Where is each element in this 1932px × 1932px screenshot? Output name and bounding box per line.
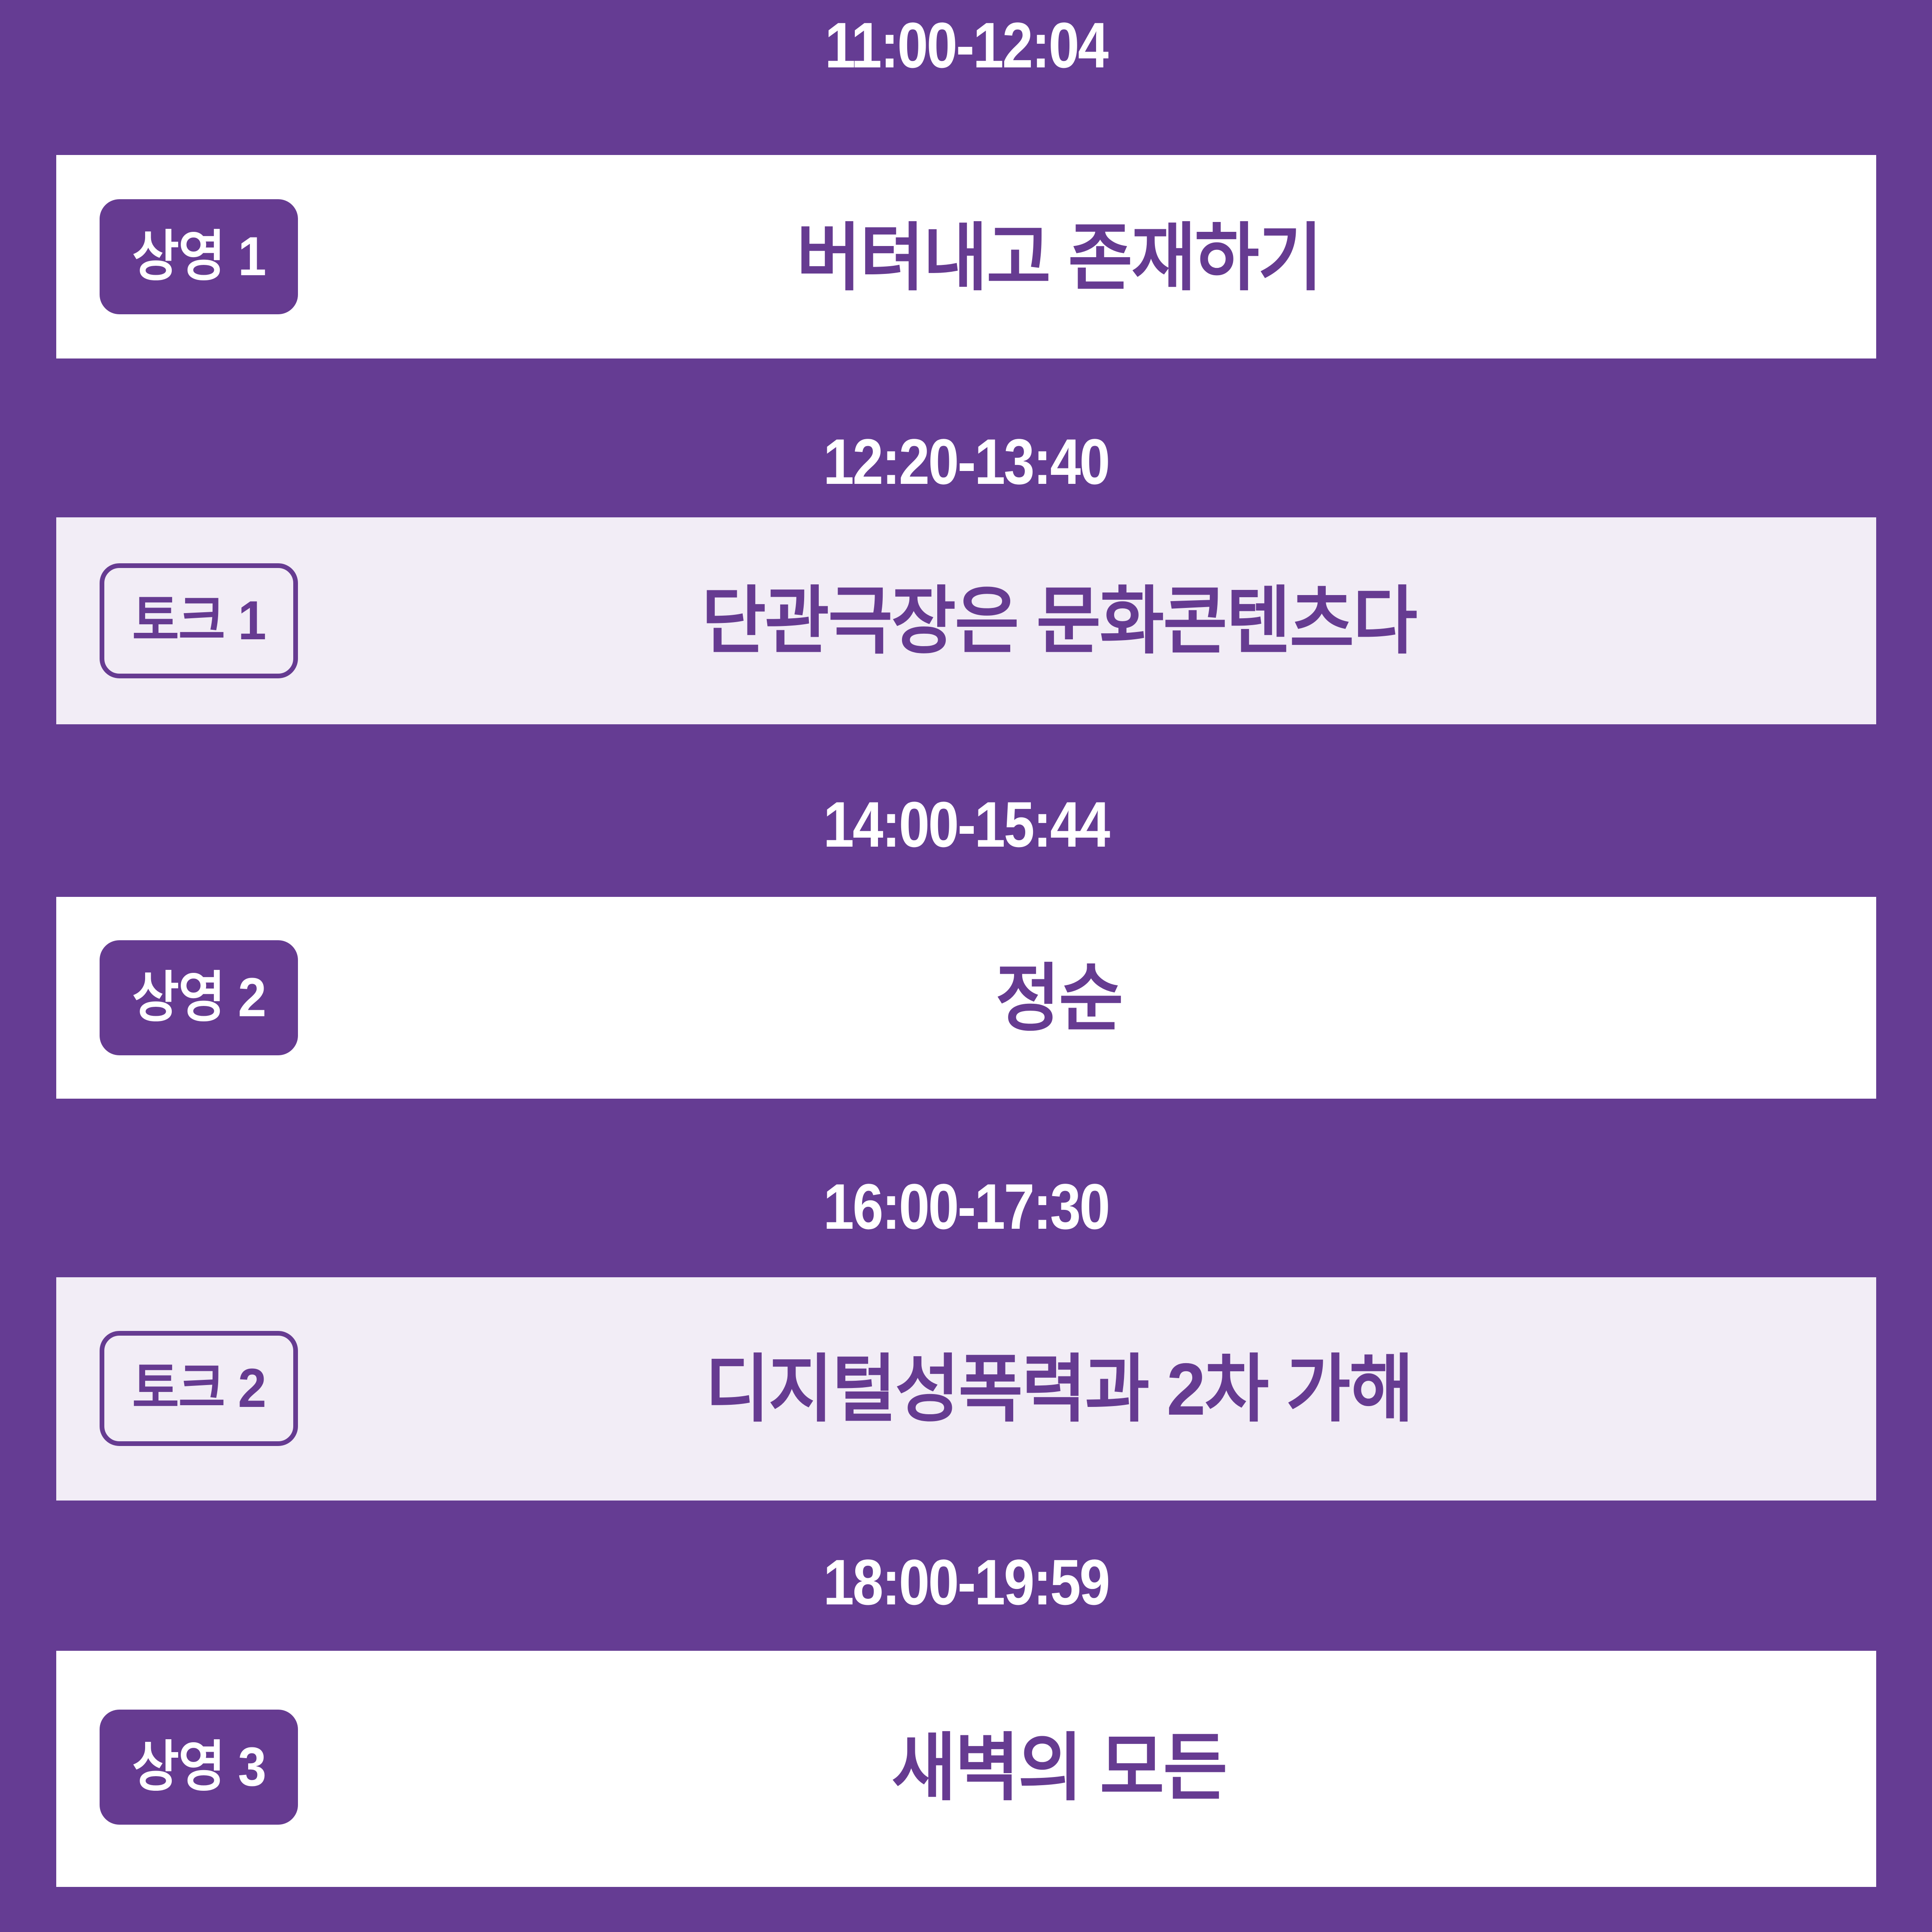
slot-time-range: 14:00-15:44: [135, 792, 1797, 857]
slot-title-text: 버텨내고 존재하기: [796, 221, 1321, 295]
slot-title: 정순: [298, 962, 1820, 1036]
slot-title: 디지털성폭력과 2차 가해: [298, 1352, 1820, 1426]
slot-badge: 상영 1: [100, 199, 298, 314]
slot-time-range: 11:00-12:04: [135, 13, 1797, 77]
slot-title: 단관극장은 문화콘텐츠다: [298, 584, 1820, 658]
slot-badge: 토크 2: [100, 1331, 298, 1446]
slot-badge-label: 토크 1: [132, 593, 266, 648]
slot-badge-label: 상영 1: [132, 229, 266, 284]
slot-badge-label: 상영 3: [132, 1740, 266, 1795]
slot-title-text: 새벽의 모든: [892, 1731, 1227, 1805]
slot-title-text: 정순: [996, 962, 1122, 1036]
slot-time-range: 16:00-17:30: [135, 1174, 1797, 1239]
slot-badge: 상영 2: [100, 940, 298, 1055]
slot-badge-label: 토크 2: [132, 1361, 266, 1416]
slot-badge: 토크 1: [100, 563, 298, 678]
slot-badge: 상영 3: [100, 1710, 298, 1825]
slot-title: 버텨내고 존재하기: [298, 221, 1820, 295]
slot-title: 새벽의 모든: [298, 1731, 1820, 1805]
slot-time-range: 18:00-19:59: [135, 1550, 1797, 1614]
slot-time-range: 12:20-13:40: [135, 429, 1797, 494]
festival-schedule: 11:00-12:04 상영 1 버텨내고 존재하기 12:20-13:40 토…: [0, 0, 1932, 1932]
slot-badge-label: 상영 2: [132, 970, 266, 1025]
slot-title-text: 디지털성폭력과 2차 가해: [705, 1352, 1413, 1426]
slot-title-text: 단관극장은 문화콘텐츠다: [702, 584, 1416, 658]
